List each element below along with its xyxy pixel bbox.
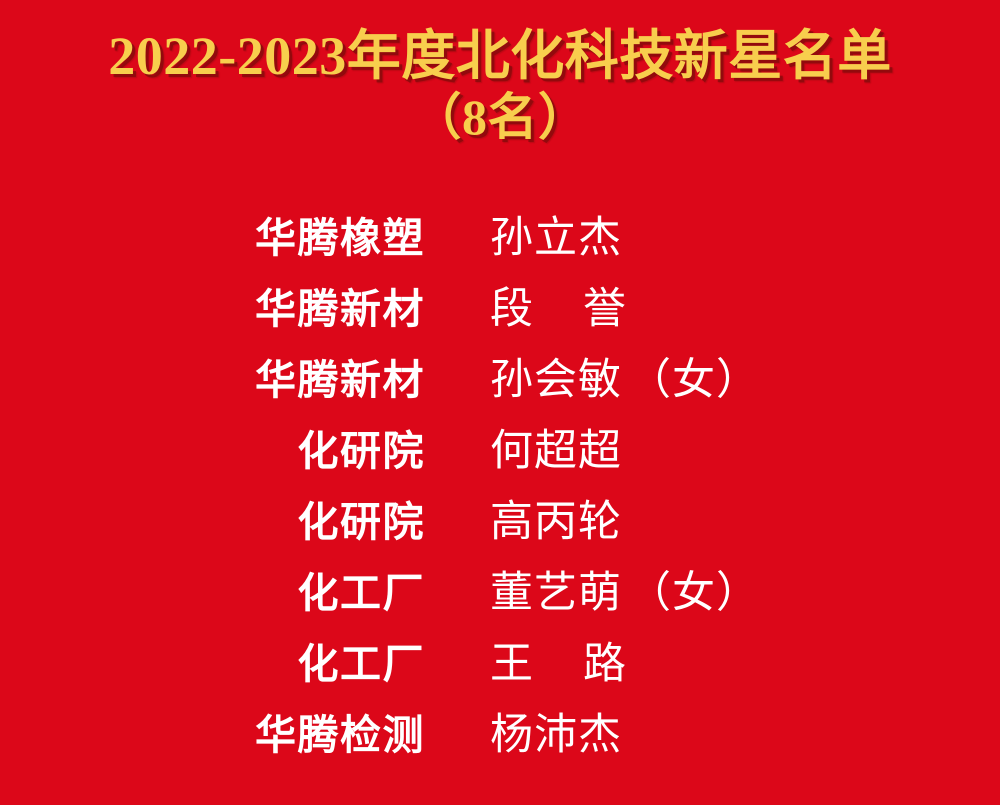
honoree-name: 何超超 (490, 428, 622, 475)
honoree-name: 孙会敏 (490, 357, 622, 404)
honoree-organization: 华腾检测 (0, 701, 425, 761)
honoree-gender-suffix: （女） (628, 570, 760, 617)
honoree-row: 化研院何超超 (0, 416, 1000, 487)
honoree-organization: 化研院 (0, 417, 425, 477)
honoree-row: 化工厂王路 (0, 629, 1000, 700)
honoree-row: 化工厂董艺萌（女） (0, 558, 1000, 629)
honoree-name: 杨沛杰 (490, 712, 622, 759)
honoree-row: 华腾新材段誉 (0, 274, 1000, 345)
honoree-organization: 华腾新材 (0, 346, 425, 406)
honoree-name-cell: 高丙轮 (490, 487, 1000, 549)
honoree-organization: 化研院 (0, 488, 425, 548)
title-count-subtitle: （8名） (0, 88, 1000, 146)
honoree-name-cell: 孙立杰 (490, 203, 1000, 265)
page-title: 2022-2023年度北化科技新星名单 (0, 26, 1000, 86)
honoree-name-cell: 董艺萌（女） (490, 558, 1000, 620)
honoree-row: 华腾新材孙会敏（女） (0, 345, 1000, 416)
honoree-name-cell: 王路 (490, 629, 1000, 691)
honoree-name-cell: 段誉 (490, 274, 1000, 336)
honoree-name: 高丙轮 (490, 499, 622, 546)
honoree-gender-suffix: （女） (628, 357, 760, 404)
honoree-row: 华腾橡塑孙立杰 (0, 203, 1000, 274)
honoree-name-cell: 何超超 (490, 416, 1000, 478)
honoree-name: 王路 (490, 629, 627, 691)
honoree-organization: 化工厂 (0, 630, 425, 690)
poster-canvas: 2022-2023年度北化科技新星名单 （8名） 华腾橡塑孙立杰华腾新材段誉华腾… (0, 0, 1000, 805)
honoree-organization: 化工厂 (0, 559, 425, 619)
title-block: 2022-2023年度北化科技新星名单 （8名） (0, 26, 1000, 146)
honoree-organization: 华腾新材 (0, 275, 425, 335)
honoree-row: 华腾检测杨沛杰 (0, 700, 1000, 771)
honoree-name: 孙立杰 (490, 215, 622, 262)
honoree-organization: 华腾橡塑 (0, 204, 425, 264)
honoree-row: 化研院高丙轮 (0, 487, 1000, 558)
honoree-name: 董艺萌 (490, 570, 622, 617)
honoree-name-cell: 杨沛杰 (490, 700, 1000, 762)
honoree-name: 段誉 (490, 274, 627, 336)
honoree-list: 华腾橡塑孙立杰华腾新材段誉华腾新材孙会敏（女）化研院何超超化研院高丙轮化工厂董艺… (0, 203, 1000, 771)
honoree-name-cell: 孙会敏（女） (490, 345, 1000, 407)
